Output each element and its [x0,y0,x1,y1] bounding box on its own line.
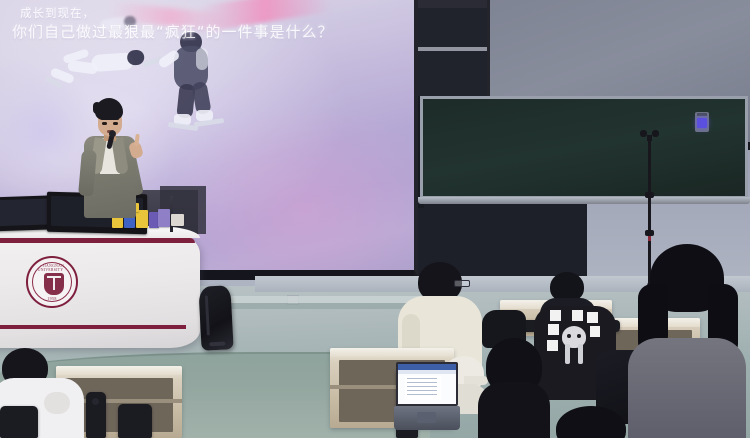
podium-item-box-7 [158,209,170,227]
laptop-trackpad[interactable] [417,412,436,423]
slide-line-2: 你们自己做过最狠最“疯狂“的一件事是什么？ [12,22,392,42]
laptop[interactable] [396,362,458,430]
laptop-document-text [407,378,437,397]
slide-skier-center [140,28,250,138]
student-bottom-right [556,406,626,438]
chalk-tray [418,197,750,204]
glasses-icon [454,280,470,287]
slide-line-1: 成长到现在， [12,6,392,21]
chair-bottom-left-2 [118,404,152,438]
chair-front-left [86,392,106,438]
seal-text-top: · JIANGNAN UNIVERSITY · [28,264,76,272]
chair-bottom-left [0,406,38,438]
wall-sensor-led-icon [697,118,707,128]
podium-item-box-8 [171,214,184,226]
tripod-knob-upper [645,192,654,198]
tee-graphic-print [550,310,598,364]
lectern-stripe-top [0,238,195,243]
lecture-hall-photo: 成长到现在， 你们自己做过最狠最“疯狂“的一件事是什么？ · JIANGNAN … [0,0,750,438]
wall-sensor-top [697,113,707,116]
student-long-hair-center [478,338,550,438]
backpack-on-floor [198,285,233,351]
wall-ledge [415,47,495,51]
lectern-stripe-bottom [0,325,186,329]
seal-shield-icon [44,273,64,295]
university-seal: · JIANGNAN UNIVERSITY · 1958 [26,256,78,308]
tripod-marker [648,236,651,241]
presenter-hair [95,98,123,120]
student-grey-shirt-right [628,244,746,438]
seal-text-bottom: 1958 [28,296,76,301]
laptop-app-ribbon [398,370,456,374]
presenter [78,98,148,218]
wall-sensor-device [695,112,709,132]
slide-text-block: 成长到现在， 你们自己做过最狠最“疯狂“的一件事是什么？ [12,6,392,42]
laptop-screen [396,362,458,406]
student-front-left-arm [44,392,70,414]
